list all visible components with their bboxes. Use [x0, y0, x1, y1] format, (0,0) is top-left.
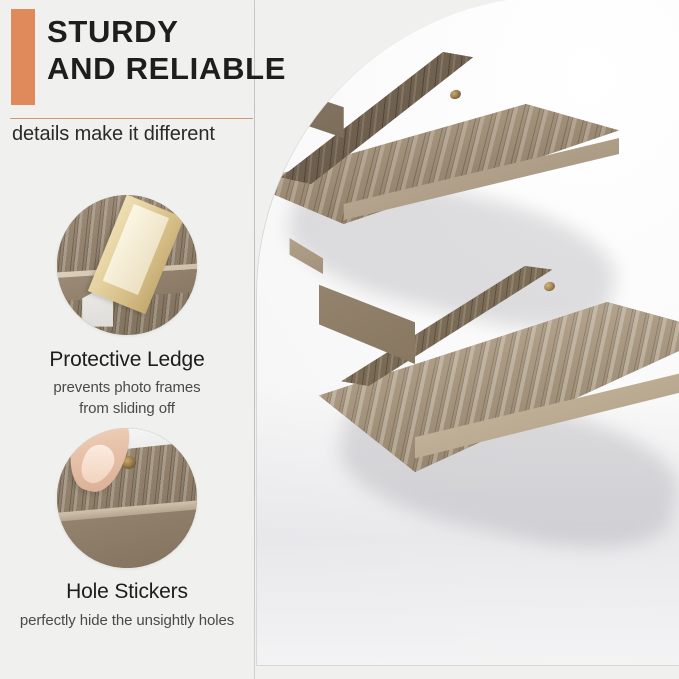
header: STURDY AND RELIABLE details make it diff…: [0, 0, 340, 150]
title-line-1: STURDY: [47, 14, 337, 51]
feature-subtitle-protective-ledge-line2: from sliding off: [0, 398, 254, 419]
subtitle: details make it different: [12, 123, 215, 146]
title-line-2: AND RELIABLE: [47, 51, 337, 88]
feature-subtitle-protective-ledge-line1: prevents photo frames: [0, 377, 254, 398]
title-rule: [10, 118, 253, 119]
feature-image-hole-stickers: [57, 428, 197, 568]
feature-subtitle-hole-stickers-line1: perfectly hide the unsightly holes: [0, 610, 254, 631]
accent-bar: [11, 9, 35, 105]
fingernail: [74, 439, 119, 488]
shelf-lower: [319, 254, 679, 584]
mounting-hole-icon: [543, 281, 556, 293]
feature-image-protective-ledge: [57, 195, 197, 335]
page-title: STURDY AND RELIABLE: [47, 14, 337, 88]
feature-title-protective-ledge: Protective Ledge: [0, 348, 254, 372]
mounting-hole-icon: [449, 89, 462, 101]
feature-title-hole-stickers: Hole Stickers: [0, 580, 254, 604]
infographic-canvas: STURDY AND RELIABLE details make it diff…: [0, 0, 679, 679]
